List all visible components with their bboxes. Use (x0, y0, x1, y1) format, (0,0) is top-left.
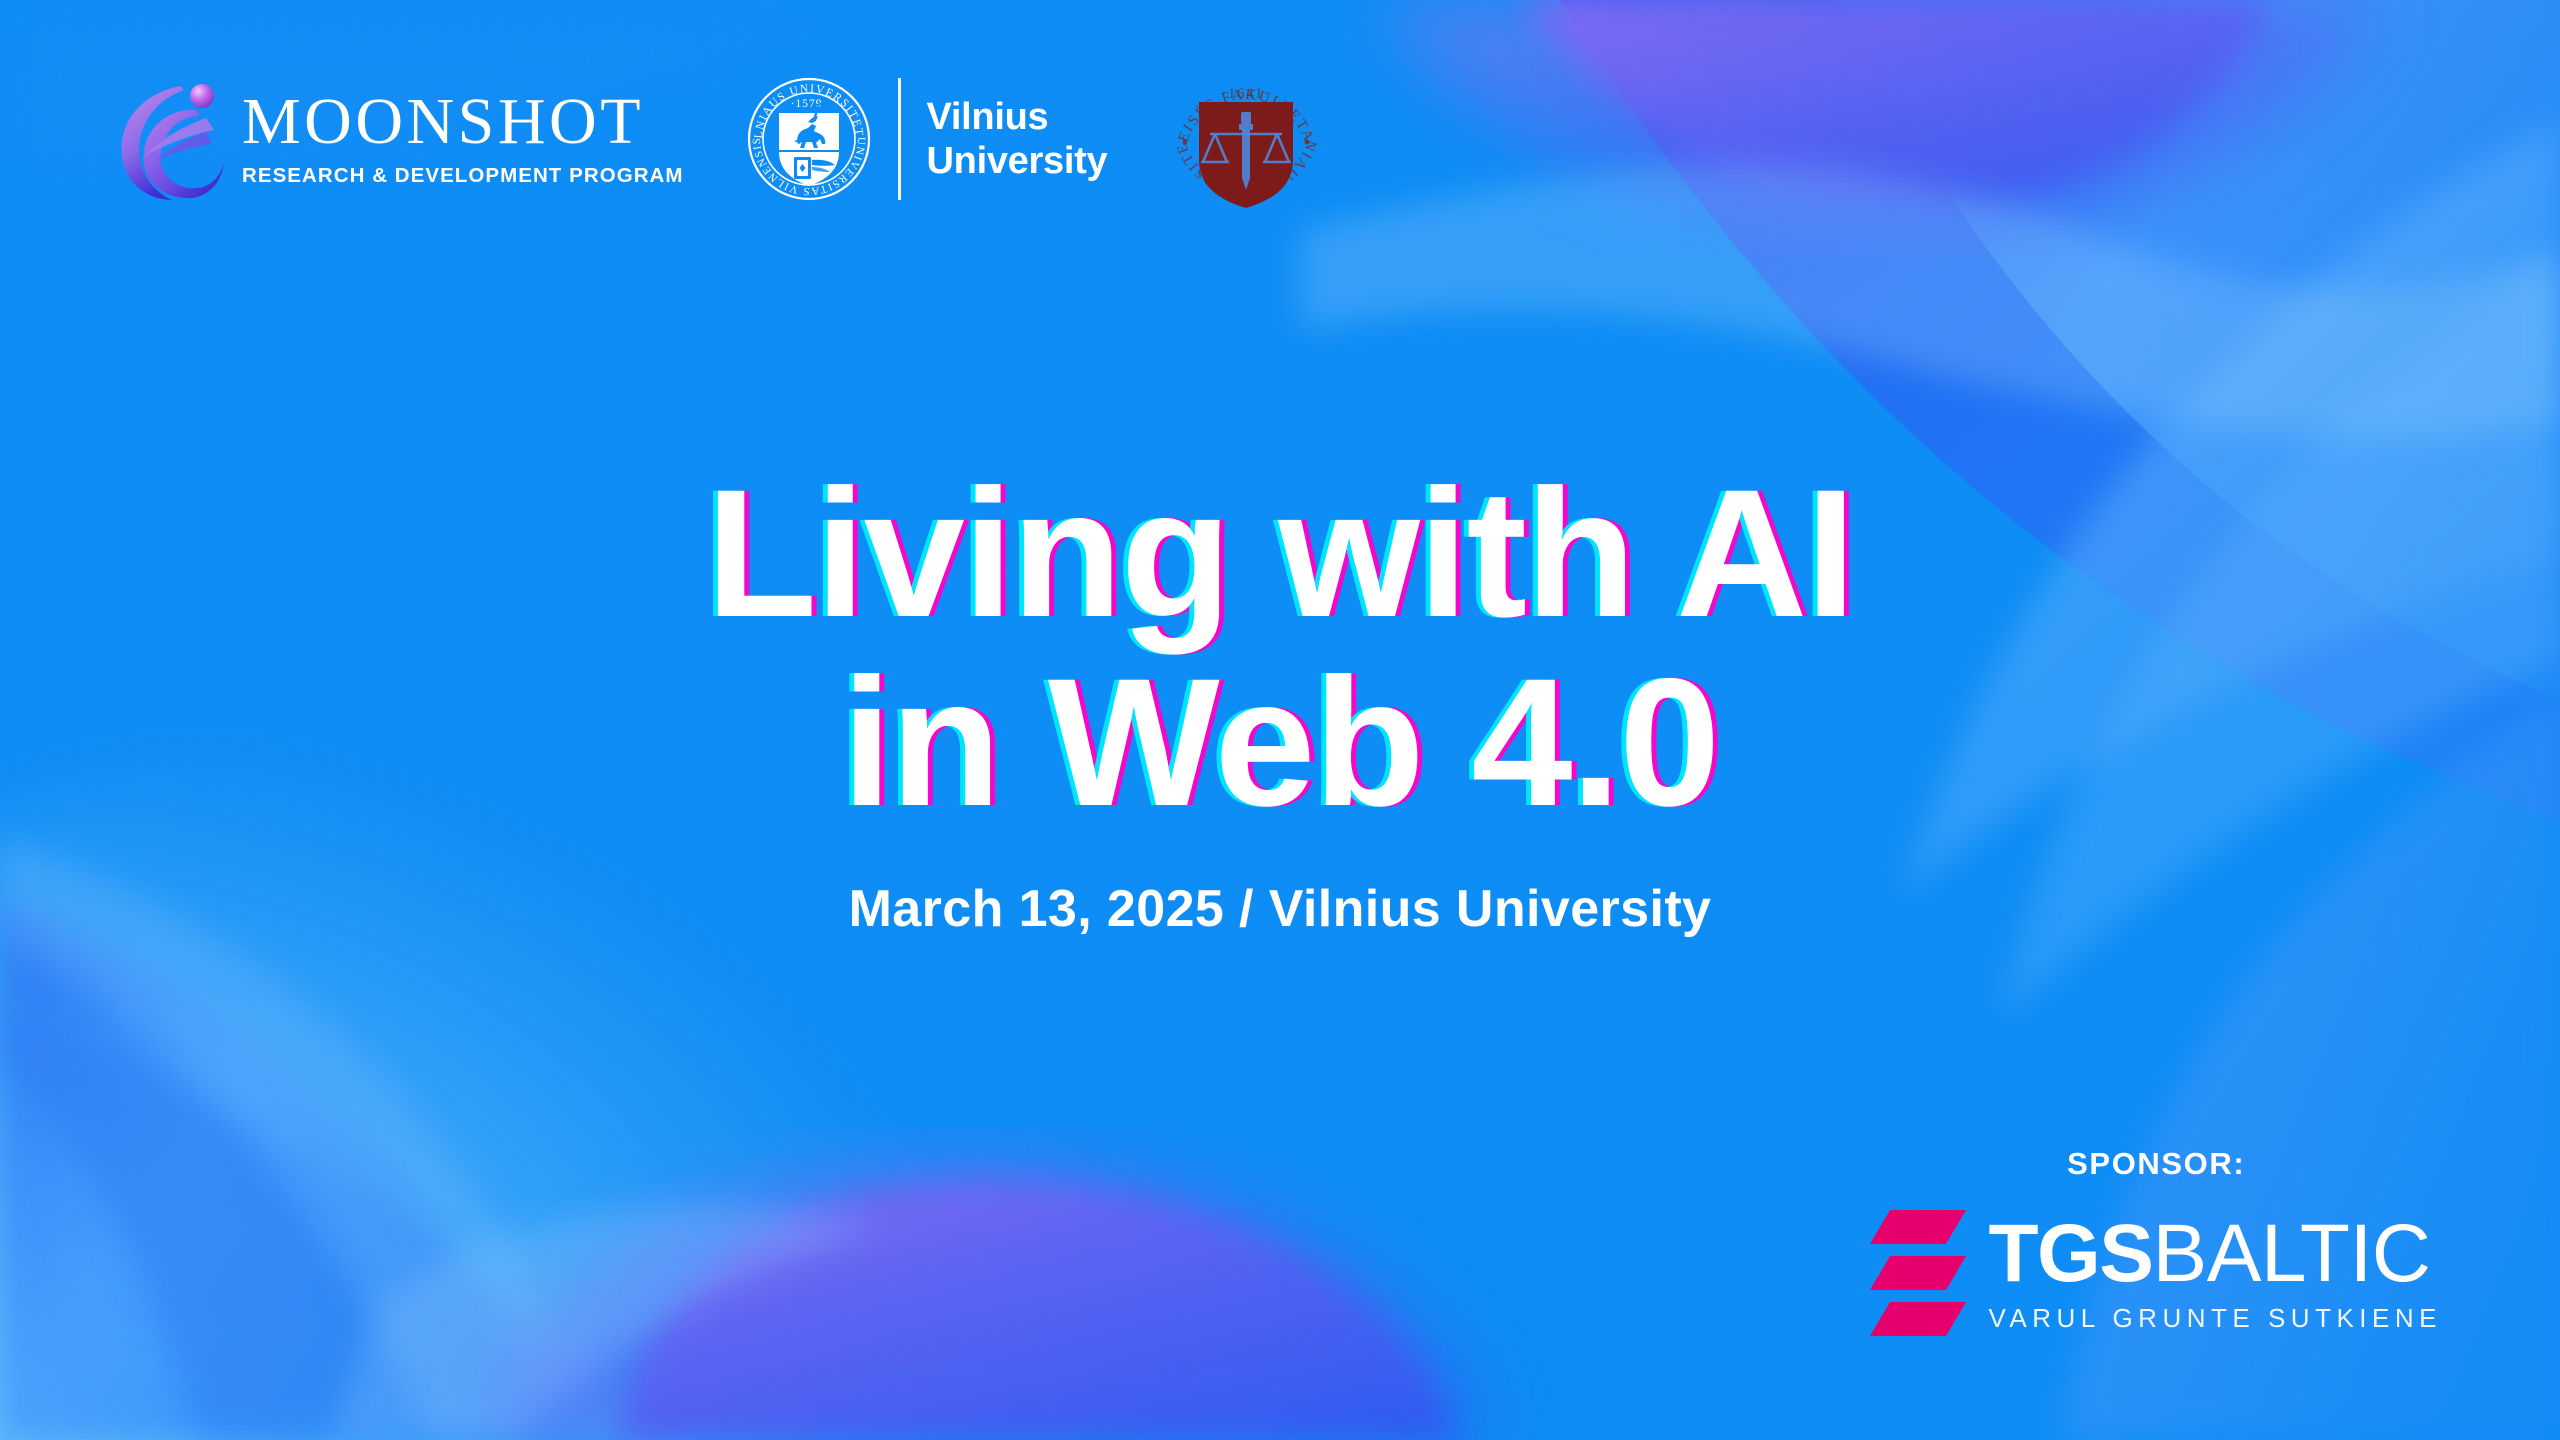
vu-name-line2: University (927, 139, 1108, 183)
vu-name-line1: Vilnius (927, 95, 1108, 139)
tgs-baltic-bars-icon (1870, 1210, 1966, 1336)
event-date-venue: March 13, 2025 / Vilnius University (0, 879, 2560, 939)
moonshot-swoosh-icon (110, 74, 228, 204)
logo-divider (898, 78, 901, 200)
tgs-baltic-logo: TGS BALTIC VARUL GRUNTE SUTKIENE (1870, 1210, 2442, 1336)
moonshot-subtitle: RESEARCH & DEVELOPMENT PROGRAM (242, 164, 684, 188)
vilnius-university-seal-icon: VILNIAUS UNIVERSITETAS UNIVERSITAS VILNE… (746, 76, 872, 202)
tgs-name-bold: TGS (1988, 1213, 2152, 1295)
sponsor-label: SPONSOR: (2067, 1146, 2245, 1182)
vu-law-faculty-crest-icon: TEISĖS FAKULTETAS VILNIAUS UNIVERSITETAS… (1163, 56, 1329, 222)
event-poster: MOONSHOT RESEARCH & DEVELOPMENT PROGRAM … (0, 0, 2560, 1440)
moonshot-title: MOONSHOT (242, 90, 684, 155)
svg-text:·1641·: ·1641· (1222, 86, 1271, 102)
event-title-line-2: in Web 4.0 (0, 659, 2560, 826)
vilnius-university-logo: VILNIAUS UNIVERSITETAS UNIVERSITAS VILNE… (746, 76, 1108, 202)
tgs-name-light: BALTIC (2153, 1213, 2431, 1295)
moonshot-logo: MOONSHOT RESEARCH & DEVELOPMENT PROGRAM (110, 74, 684, 204)
tgs-tagline: VARUL GRUNTE SUTKIENE (1988, 1303, 2442, 1334)
vilnius-university-name: Vilnius University (927, 95, 1108, 184)
sponsor-block: SPONSOR: TGS BALTIC VARUL GRUNTE SUTKIEN… (1870, 1146, 2442, 1336)
logo-header: MOONSHOT RESEARCH & DEVELOPMENT PROGRAM … (110, 56, 1329, 222)
event-title-line-1: Living with AI (0, 470, 2560, 637)
title-block: Living with AI in Web 4.0 March 13, 2025… (0, 470, 2560, 939)
